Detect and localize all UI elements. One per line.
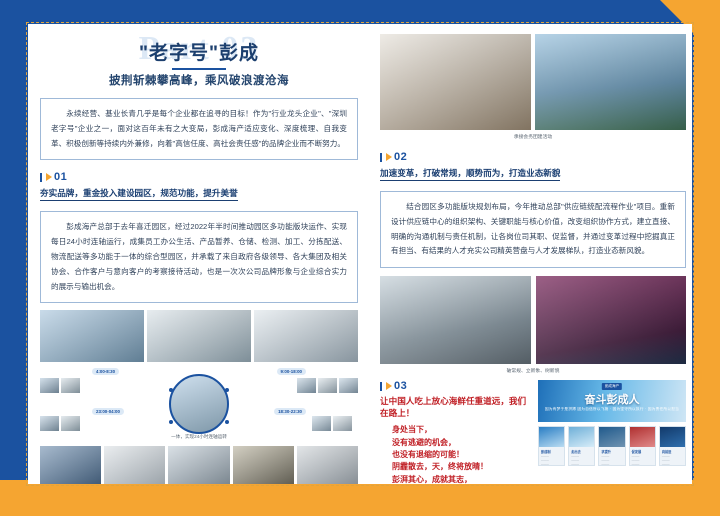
triangle-icon <box>386 153 392 161</box>
section-02-building-photos <box>380 276 686 364</box>
timeline-thumb <box>40 416 59 431</box>
section-02-body: 结合园区多功能版块规划布局，今年推动总部"供应链统配流程作业"项目。重新设计供应… <box>391 200 675 259</box>
poster-subtitle: 因为有梦于是拼搏 因为自信所以飞扬 · 因为坚守所以执行 · 因为责任所以担当 <box>545 407 679 412</box>
timeline-time-4: 23:00-04:00 <box>92 408 124 415</box>
mini-poster: 求提升 ————————— <box>598 426 625 466</box>
slogan-line: 没有逃避的机会， <box>392 437 532 449</box>
timeline-time-2: 9:00-18:00 <box>277 368 306 375</box>
mini-poster-text: ————————— <box>660 454 685 466</box>
title-divider <box>172 68 226 70</box>
photo-processing-line <box>254 310 358 362</box>
mini-poster: 向前进 ————————— <box>659 426 686 466</box>
photo-cell: 彭成荣誉墙 <box>104 446 165 484</box>
timeline-thumb <box>312 416 331 431</box>
section-03-slogan-lines: 身处当下， 没有逃避的机会， 也没有退缩的可能！ 阴霾散去，天，终将放晴！ 彭湃… <box>380 424 532 484</box>
section-02-body-box: 结合园区多功能版块规划布局，今年推动总部"供应链统配流程作业"项目。重新设计供应… <box>380 191 686 268</box>
timeline-dot <box>225 388 229 392</box>
mini-poster-text: ————————— <box>539 454 564 466</box>
timeline-time-1: 4:00-8:30 <box>92 368 119 375</box>
mini-poster-label: 走出去 <box>569 447 594 454</box>
photo-cell: 彭成产品墙 <box>168 446 229 484</box>
slogan-line: 也没有退缩的可能！ <box>392 449 532 461</box>
timeline-thumb <box>61 416 80 431</box>
mini-poster-text: ————————— <box>599 454 624 466</box>
left-column: Part 03 "老字号"彭成 披荆斩棘攀高峰，乘风破浪渡沧海 永续经营、基业长… <box>28 24 370 484</box>
section-02: 02 加速变革，打破常规，顺势而为，打造业态新貌 <box>380 151 686 181</box>
section-03: 03 让中国人吃上放心海鲜任重道远，我们在路上！ 身处当下， 没有逃避的机会， … <box>380 380 686 484</box>
photo-government-leaders <box>40 446 101 484</box>
section-marker-bar <box>380 382 382 391</box>
section-01-photo-grid: 政府领导专区 彭成荣誉墙 彭成产品墙 彭成品鉴厅 彭成文化墙 <box>40 446 358 484</box>
mini-poster-row: 彭成制 ————————— 走出去 ————————— 求提升 ————————… <box>538 426 686 466</box>
section-03-number-row: 03 <box>380 380 532 392</box>
mini-poster-label: 促发展 <box>630 447 655 454</box>
timeline-photo-group-1 <box>40 378 80 393</box>
section-marker-bar <box>380 153 382 162</box>
photo-headquarters-night <box>536 276 687 364</box>
timeline-thumb <box>318 378 337 393</box>
mini-poster-label: 求提升 <box>599 447 624 454</box>
section-03-number: 03 <box>394 380 407 392</box>
photo-cell: 彭成品鉴厅 <box>233 446 294 484</box>
section-01-body: 彭成海产总部于去年喜迁园区，经过2022年半时间推动园区多功能版块运作、实现每日… <box>51 220 347 294</box>
section-01-body-box: 彭成海产总部于去年喜迁园区，经过2022年半时间推动园区多功能版块运作、实现每日… <box>40 211 358 303</box>
section-01-banner-photos <box>40 310 358 362</box>
right-column: 承接会务团建活动 02 加速变革，打破常规，顺势而为，打造业态新貌 结合园区多功… <box>374 24 692 484</box>
operations-timeline-diagram: 4:00-8:30 9:00-18:00 23:00-04:00 18:30-2… <box>40 366 358 438</box>
mini-poster-image <box>539 427 564 447</box>
mini-poster-label: 彭成制 <box>539 447 564 454</box>
slogan-line: 阴霾散去，天，终将放晴！ <box>392 461 532 473</box>
triangle-icon <box>386 382 392 390</box>
timeline-center-photo <box>169 374 229 434</box>
timeline-dot <box>225 420 229 424</box>
photo-culture-wall <box>297 446 358 484</box>
section-02-top-photos <box>380 34 686 130</box>
timeline-thumb <box>40 378 59 393</box>
photo-outdoor-event <box>535 34 686 130</box>
mini-poster: 促发展 ————————— <box>629 426 656 466</box>
timeline-photo-group-3 <box>312 416 352 431</box>
section-01: 01 夯实品牌，重金投入建设园区，规范功能，提升美誉 <box>40 171 358 201</box>
intro-paragraph: 永续经营、基业长青几乎是每个企业都在追寻的目标！作为"行业龙头企业"、"深圳老字… <box>51 107 347 151</box>
mini-poster-label: 向前进 <box>660 447 685 454</box>
timeline-note: 一体，实现24小时连轴运转 <box>171 434 227 440</box>
photo-warehouse-interior <box>147 310 251 362</box>
section-01-number: 01 <box>54 171 67 183</box>
section-02-number: 02 <box>394 151 407 163</box>
photo-cell: 彭成文化墙 <box>297 446 358 484</box>
title-block: Part 03 "老字号"彭成 披荆斩棘攀高峰，乘风破浪渡沧海 <box>28 24 370 88</box>
section-marker-bar <box>40 173 42 182</box>
photo-headquarters-day <box>380 276 531 364</box>
brochure-page: Part 03 "老字号"彭成 披荆斩棘攀高峰，乘风破浪渡沧海 永续经营、基业长… <box>28 24 692 484</box>
mini-poster-text: ————————— <box>569 454 594 466</box>
page-title: "老字号"彭成 <box>28 38 370 65</box>
section-02-number-row: 02 <box>380 151 686 163</box>
section-01-heading: 夯实品牌，重金投入建设园区，规范功能，提升美誉 <box>40 187 238 201</box>
timeline-time-3: 18:30-22:30 <box>274 408 306 415</box>
mini-poster-image <box>569 427 594 447</box>
timeline-thumb <box>61 378 80 393</box>
page-subtitle: 披荆斩棘攀高峰，乘风破浪渡沧海 <box>28 72 370 88</box>
section-03-text: 03 让中国人吃上放心海鲜任重道远，我们在路上！ 身处当下， 没有逃避的机会， … <box>380 380 532 484</box>
timeline-thumb <box>333 416 352 431</box>
mini-poster-image <box>660 427 685 447</box>
mini-poster: 彭成制 ————————— <box>538 426 565 466</box>
photo-conference-hall <box>380 34 531 130</box>
timeline-photo-group-2 <box>297 378 358 393</box>
timeline-thumb <box>297 378 316 393</box>
timeline-thumb <box>339 378 358 393</box>
section-02-top-photos-caption: 承接会务团建活动 <box>374 133 692 140</box>
triangle-icon <box>46 173 52 181</box>
section-01-number-row: 01 <box>40 171 358 183</box>
mini-poster-image <box>599 427 624 447</box>
intro-paragraph-box: 永续经营、基业长青几乎是每个企业都在追寻的目标！作为"行业龙头企业"、"深圳老字… <box>40 98 358 160</box>
section-03-heading: 让中国人吃上放心海鲜任重道远，我们在路上！ <box>380 395 532 419</box>
poster-banner: 彭成海产 奋斗彭成人 因为有梦于是拼搏 因为自信所以飞扬 · 因为坚守所以执行 … <box>538 380 686 422</box>
photo-honor-wall <box>104 446 165 484</box>
slogan-line: 身处当下， <box>392 424 532 436</box>
photo-grid-row-1: 政府领导专区 彭成荣誉墙 彭成产品墙 彭成品鉴厅 彭成文化墙 <box>40 446 358 484</box>
poster-logo: 彭成海产 <box>602 383 622 390</box>
section-02-heading: 加速变革，打破常规，顺势而为，打造业态新貌 <box>380 167 560 181</box>
mini-poster-text: ————————— <box>630 454 655 466</box>
photo-tasting-room <box>233 446 294 484</box>
timeline-dot <box>169 420 173 424</box>
slogan-line: 彭湃其心，成就其志， <box>392 474 532 484</box>
photo-cell: 政府领导专区 <box>40 446 101 484</box>
mini-poster-image <box>630 427 655 447</box>
photo-building-exterior <box>40 310 144 362</box>
mini-poster: 走出去 ————————— <box>568 426 595 466</box>
section-02-buildings-caption: 破常规、立新象、树新貌 <box>374 367 692 374</box>
section-03-posters: 彭成海产 奋斗彭成人 因为有梦于是拼搏 因为自信所以飞扬 · 因为坚守所以执行 … <box>538 380 686 484</box>
photo-product-wall <box>168 446 229 484</box>
poster-title: 奋斗彭成人 <box>585 391 640 407</box>
timeline-photo-group-4 <box>40 416 80 431</box>
